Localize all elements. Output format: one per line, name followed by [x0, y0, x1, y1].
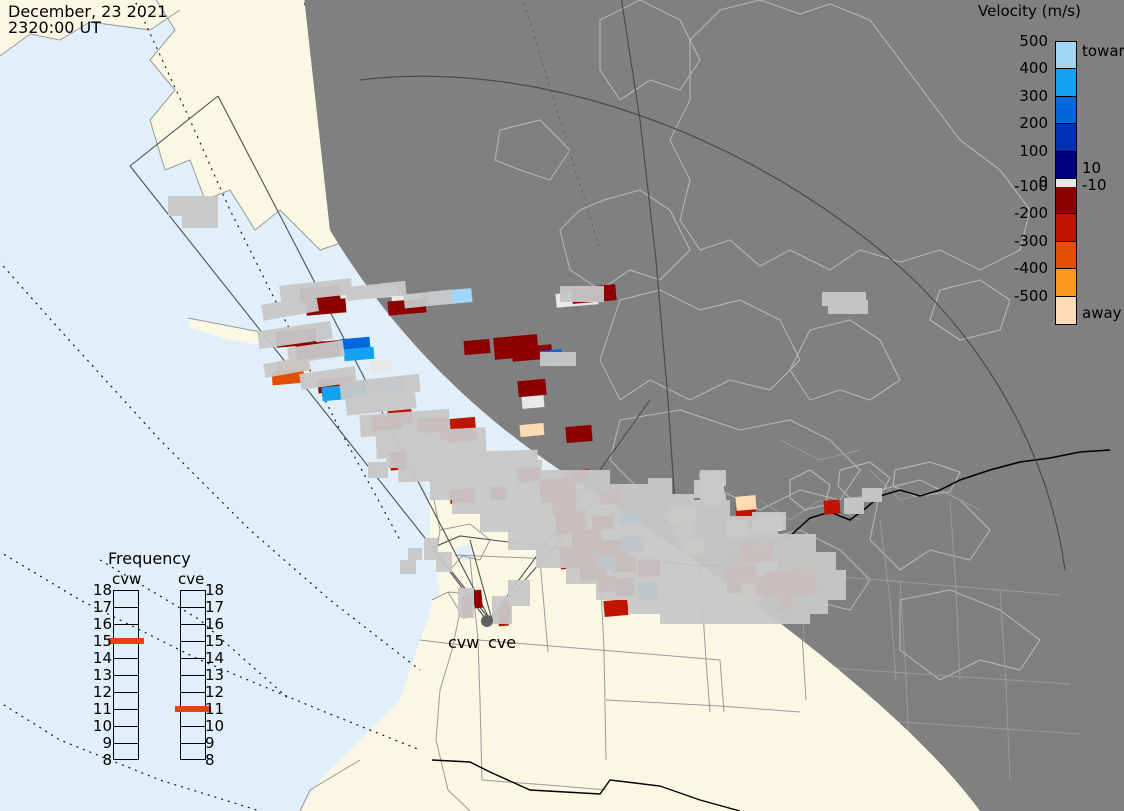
- frequency-bar-name-cve: cve: [178, 570, 204, 588]
- colorbar-band-150: [1056, 124, 1076, 151]
- radar-site-dot: [481, 615, 493, 627]
- velocity-cell: [473, 590, 483, 609]
- frequency-segment: [181, 744, 205, 761]
- colorbar-tick-400: 400: [1002, 59, 1048, 77]
- colorbar-away-label: away: [1082, 304, 1122, 322]
- frequency-segment: [181, 642, 205, 659]
- frequency-segment: [181, 625, 205, 642]
- frequency-segment: [114, 676, 138, 693]
- colorbar-tick-500: 500: [1002, 32, 1048, 50]
- colorbar-band--450: [1056, 297, 1076, 324]
- frequency-segment: [181, 659, 205, 676]
- frequency-tick-cve-17: 17: [205, 598, 229, 616]
- frequency-tick-cve-14: 14: [205, 649, 229, 667]
- velocity-cell: [735, 495, 756, 511]
- colorbar-tick--300: -300: [1002, 232, 1048, 250]
- colorbar-tick--200: -200: [1002, 204, 1048, 222]
- frequency-tick-cvw-14: 14: [88, 649, 112, 667]
- velocity-cell: [517, 379, 546, 397]
- frequency-segment: [181, 727, 205, 744]
- frequency-tick-cvw-10: 10: [88, 717, 112, 735]
- colorbar-tick--500: -500: [1002, 287, 1048, 305]
- frequency-marker-cvw: [108, 638, 144, 644]
- frequency-tick-cve-9: 9: [205, 734, 229, 752]
- colorbar-zero-low-label: -10: [1082, 176, 1107, 194]
- colorbar-band-350: [1056, 69, 1076, 96]
- frequency-tick-cve-11: 11: [205, 700, 229, 718]
- frequency-segment: [114, 727, 138, 744]
- colorbar-band--350: [1056, 269, 1076, 296]
- time-label: 2320:00 UT: [8, 18, 101, 37]
- frequency-tick-cve-15: 15: [205, 632, 229, 650]
- frequency-tick-cve-12: 12: [205, 683, 229, 701]
- frequency-segment: [181, 591, 205, 608]
- map-canvas: [0, 0, 1124, 811]
- colorbar-band--250: [1056, 242, 1076, 269]
- frequency-tick-cvw-16: 16: [88, 615, 112, 633]
- frequency-tick-cvw-8: 8: [88, 751, 112, 769]
- velocity-cell: [522, 395, 545, 409]
- frequency-segment: [114, 693, 138, 710]
- frequency-tick-cvw-9: 9: [88, 734, 112, 752]
- frequency-bar-cvw: [113, 590, 139, 760]
- frequency-segment: [114, 642, 138, 659]
- velocity-colorbar: [1055, 41, 1077, 325]
- frequency-tick-cvw-13: 13: [88, 666, 112, 684]
- colorbar-band--150: [1056, 214, 1076, 241]
- frequency-segment: [114, 659, 138, 676]
- colorbar-band-450: [1056, 42, 1076, 69]
- site-label-cvw: cvw: [448, 633, 479, 652]
- frequency-tick-cvw-12: 12: [88, 683, 112, 701]
- velocity-cell: [823, 499, 840, 514]
- frequency-tick-cve-16: 16: [205, 615, 229, 633]
- colorbar-tick--100: -100: [1002, 177, 1048, 195]
- frequency-tick-cvw-15: 15: [88, 632, 112, 650]
- colorbar-title: Velocity (m/s): [978, 2, 1081, 20]
- frequency-tick-cvw-18: 18: [88, 581, 112, 599]
- colorbar-zero-high-label: 10: [1082, 159, 1101, 177]
- frequency-bar-name-cvw: cvw: [112, 570, 141, 588]
- site-label-cve: cve: [488, 633, 516, 652]
- colorbar-tick-100: 100: [1002, 142, 1048, 160]
- frequency-tick-cve-18: 18: [205, 581, 229, 599]
- frequency-segment: [181, 676, 205, 693]
- radar-fan-plot: December, 23 2021 2320:00 UT Velocity (m…: [0, 0, 1124, 811]
- velocity-cell: [463, 339, 490, 355]
- frequency-tick-cve-10: 10: [205, 717, 229, 735]
- colorbar-band-250: [1056, 97, 1076, 124]
- colorbar-toward-label: toward: [1082, 42, 1124, 60]
- frequency-tick-cve-8: 8: [205, 751, 229, 769]
- colorbar-tick-200: 200: [1002, 114, 1048, 132]
- colorbar-tick-300: 300: [1002, 87, 1048, 105]
- frequency-bar-cve: [180, 590, 206, 760]
- velocity-cell: [370, 359, 393, 373]
- colorbar-band-0: [1056, 179, 1076, 187]
- frequency-segment: [181, 710, 205, 727]
- frequency-segment: [114, 744, 138, 761]
- velocity-cell: [565, 425, 592, 443]
- velocity-cell: [520, 423, 545, 437]
- velocity-cell: [603, 599, 628, 617]
- colorbar-band--55: [1056, 187, 1076, 214]
- colorbar-tick--400: -400: [1002, 259, 1048, 277]
- frequency-tick-cve-13: 13: [205, 666, 229, 684]
- frequency-tick-cvw-17: 17: [88, 598, 112, 616]
- frequency-segment: [114, 608, 138, 625]
- colorbar-band-55: [1056, 152, 1076, 179]
- frequency-tick-cvw-11: 11: [88, 700, 112, 718]
- frequency-segment: [181, 608, 205, 625]
- frequency-title: Frequency: [108, 549, 191, 568]
- frequency-segment: [114, 591, 138, 608]
- frequency-segment: [114, 710, 138, 727]
